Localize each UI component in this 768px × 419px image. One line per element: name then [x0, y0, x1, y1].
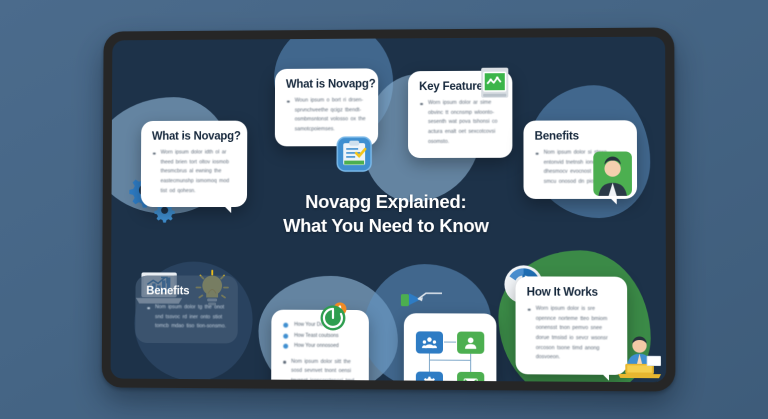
people-group-icon[interactable]: [416, 331, 443, 353]
card-how-it-works[interactable]: How It Works Worn ipsum dolor is sre ope…: [516, 276, 628, 374]
flow-connector: [444, 342, 456, 343]
avatar-icon: [593, 152, 632, 196]
card-flowchart-diagram[interactable]: [404, 313, 497, 382]
gear-icon[interactable]: [416, 372, 443, 383]
megaphone-icon: [401, 290, 443, 314]
card-what-is-novapg-top[interactable]: What is Novapg? Woun ipsum o bort ri drs…: [275, 68, 378, 145]
card-body-text: Worn ipsum dolor ar sime obvinc tt oncns…: [419, 99, 501, 147]
card-body-text: Worn ipsum dolor is sre opennce norteme …: [527, 305, 616, 364]
flowchart: [416, 331, 484, 382]
list-item[interactable]: How Your onnosoed: [282, 341, 358, 352]
card-title: Benefits: [146, 285, 227, 297]
card-title: What is Novapg?: [152, 131, 237, 143]
tablet-device-frame: Novapg Explained: What You Need to Know …: [102, 27, 676, 391]
card-title: How It Works: [527, 287, 616, 299]
card-title: What is Novapg?: [286, 78, 367, 90]
flow-connector: [429, 360, 471, 362]
card-body-text: Nom ipsum dolor sitt the sosd sevnvet tn…: [282, 357, 358, 382]
card-title: Benefits: [535, 130, 626, 142]
card-tail: [596, 367, 609, 380]
card-benefits-left[interactable]: Benefits Nom ipsum dolor tg the onot snd…: [135, 275, 238, 343]
check-circle-icon: [320, 302, 350, 332]
card-body-text: Nom ipsum dolor tg the onot snd tssvoc r…: [146, 303, 227, 332]
clipboard-check-icon: [336, 136, 372, 172]
envelope-icon[interactable]: [457, 372, 484, 383]
person-laptop-icon: [615, 335, 664, 380]
chart-document-icon: [478, 66, 511, 102]
person-icon[interactable]: [457, 332, 484, 354]
tablet-screen: Novapg Explained: What You Need to Know …: [111, 37, 667, 383]
card-what-is-novapg-left[interactable]: What is Novapg? Worn ipsum dolor idth ol…: [141, 121, 247, 208]
card-body-text: Worn ipsum dolor idth ol ar theed brien …: [152, 148, 237, 196]
flow-connector: [444, 382, 456, 383]
card-body-text: Woun ipsum o bort ri drsen-sprvnchveethe…: [286, 96, 367, 135]
page-title-line-2: What You Need to Know: [111, 214, 665, 239]
